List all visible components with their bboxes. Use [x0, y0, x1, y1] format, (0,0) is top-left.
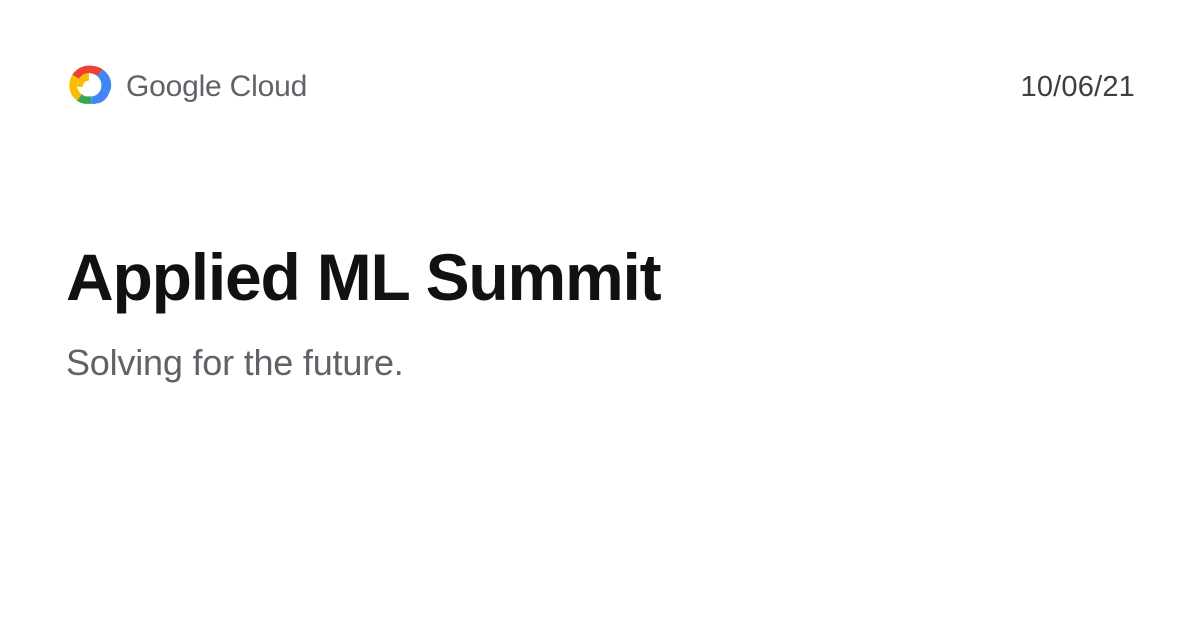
title-slide: Google Cloud 10/06/21 Applied ML Summit …	[0, 0, 1200, 628]
google-cloud-wordmark: Google Cloud	[126, 72, 307, 102]
page-title: Applied ML Summit	[66, 243, 1066, 313]
slide-copy-block: Applied ML Summit Solving for the future…	[66, 243, 1066, 384]
google-cloud-lockup: Google Cloud	[63, 62, 307, 112]
page-subtitle: Solving for the future.	[66, 341, 1066, 384]
slide-date: 10/06/21	[1021, 73, 1136, 102]
slide-header: Google Cloud 10/06/21	[63, 62, 1135, 112]
google-cloud-logo-icon	[63, 65, 115, 109]
